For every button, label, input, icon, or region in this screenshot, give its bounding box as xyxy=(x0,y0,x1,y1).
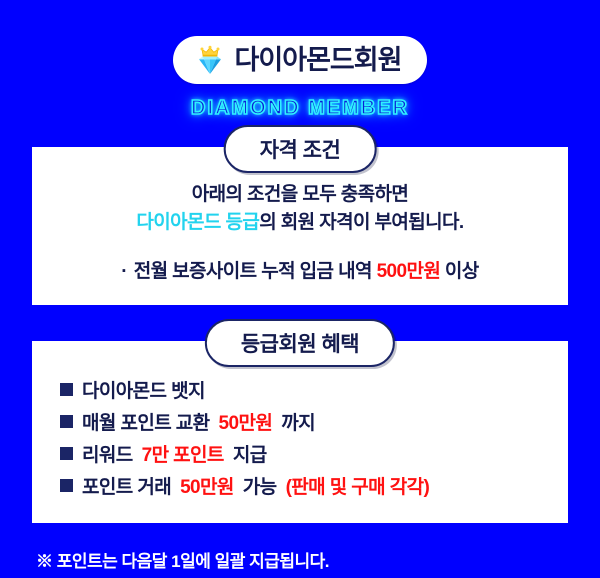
list-item: 포인트 거래 50만원 가능 (판매 및 구매 각각) xyxy=(60,469,568,501)
list-item: 매월 포인트 교환 50만원 까지 xyxy=(60,405,568,437)
qualification-requirement-amount: 500만원 xyxy=(377,261,441,282)
list-item: 다이아몬드 뱃지 xyxy=(60,373,568,405)
qualification-line-2: 다이아몬드 등급의 회원 자격이 부여됩니다. xyxy=(32,209,568,237)
benefit-text-pre: 포인트 거래 xyxy=(82,472,171,499)
page-header: 다이아몬드회원 DIAMOND MEMBER xyxy=(0,0,600,120)
list-item: 리워드 7만 포인트 지급 xyxy=(60,437,568,469)
benefits-section-label: 등급회원 혜택 xyxy=(205,319,395,367)
membership-title-text: 다이아몬드회원 xyxy=(235,47,402,74)
benefit-text-post: 지급 xyxy=(233,440,267,467)
membership-subtitle: DIAMOND MEMBER xyxy=(0,97,600,120)
qualification-line-1: 아래의 조건을 모두 충족하면 xyxy=(32,181,568,209)
benefit-text-post: 까지 xyxy=(281,408,315,435)
benefit-extra: (판매 및 구매 각각) xyxy=(286,472,430,499)
square-bullet-icon xyxy=(60,479,73,492)
benefit-amount: 7만 포인트 xyxy=(142,440,224,467)
square-bullet-icon xyxy=(60,415,73,428)
benefits-list: 다이아몬드 뱃지 매월 포인트 교환 50만원 까지 리워드 7만 포인트 지급… xyxy=(32,373,568,501)
dot-bullet-icon: · xyxy=(121,261,127,282)
benefit-text-post: 가능 xyxy=(243,472,277,499)
qualification-line-2-rest: 의 회원 자격이 부여됩니다. xyxy=(259,212,463,233)
qualification-card: 자격 조건 아래의 조건을 모두 충족하면 다이아몬드 등급의 회원 자격이 부… xyxy=(32,147,568,305)
benefit-amount: 50만원 xyxy=(180,472,234,499)
benefit-text-pre: 다이아몬드 뱃지 xyxy=(82,376,205,403)
qualification-grade-highlight: 다이아몬드 등급 xyxy=(136,212,259,233)
qualification-description: 아래의 조건을 모두 충족하면 다이아몬드 등급의 회원 자격이 부여됩니다. xyxy=(32,181,568,236)
qualification-requirement-row: · 전월 보증사이트 누적 입금 내역 500만원 이상 xyxy=(32,256,568,283)
footer-note: ※ 포인트는 다음달 1일에 일괄 지급됩니다. xyxy=(0,547,600,572)
benefit-amount: 50만원 xyxy=(219,408,273,435)
square-bullet-icon xyxy=(60,447,73,460)
benefit-text-pre: 매월 포인트 교환 xyxy=(82,408,210,435)
benefit-text-pre: 리워드 xyxy=(82,440,133,467)
square-bullet-icon xyxy=(60,383,73,396)
qualification-requirement-pre: 전월 보증사이트 누적 입금 내역 xyxy=(134,261,372,282)
membership-title-badge: 다이아몬드회원 xyxy=(173,36,428,84)
diamond-crown-icon xyxy=(193,43,227,77)
qualification-section-label: 자격 조건 xyxy=(224,125,377,173)
benefits-card: 등급회원 혜택 다이아몬드 뱃지 매월 포인트 교환 50만원 까지 리워드 7… xyxy=(32,341,568,523)
qualification-requirement-post: 이상 xyxy=(445,261,479,282)
